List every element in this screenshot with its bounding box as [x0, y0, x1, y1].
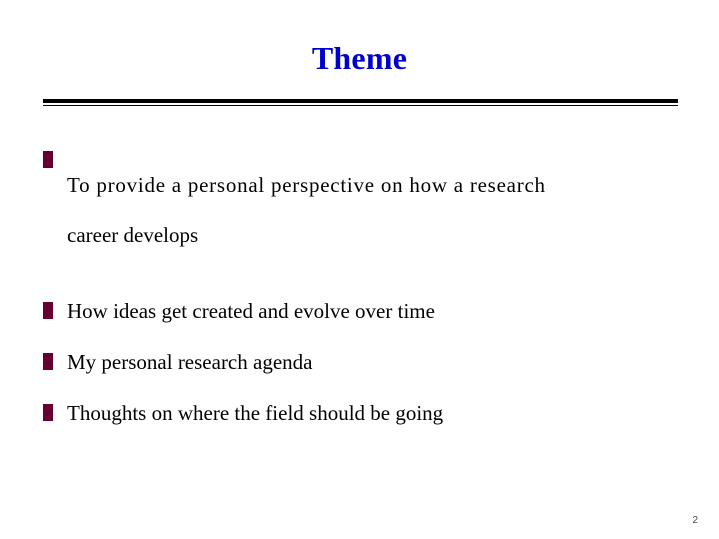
list-item: Thoughts on where the field should be go…: [43, 401, 683, 426]
title-divider: [43, 99, 678, 108]
list-item-label: Thoughts on where the field should be go…: [67, 401, 683, 426]
bullet-list: To provide a personal perspective on how…: [43, 148, 683, 426]
divider-thin-line: [43, 105, 678, 106]
list-item-line: career develops: [67, 223, 679, 248]
list-item-label: My personal research agenda: [67, 350, 683, 375]
square-bullet-icon: [43, 151, 53, 168]
list-item-line: To provide a personal perspective on how…: [67, 173, 679, 198]
list-item-label: To provide a personal perspective on how…: [67, 148, 679, 273]
list-item-label: How ideas get created and evolve over ti…: [67, 299, 683, 324]
list-item: My personal research agenda: [43, 350, 683, 375]
list-item: To provide a personal perspective on how…: [43, 148, 683, 273]
square-bullet-icon: [43, 404, 53, 421]
page-number: 2: [692, 515, 698, 526]
list-item: How ideas get created and evolve over ti…: [43, 299, 683, 324]
square-bullet-icon: [43, 353, 53, 370]
square-bullet-icon: [43, 302, 53, 319]
presentation-slide: Theme To provide a personal perspective …: [0, 0, 719, 539]
page-title: Theme: [0, 38, 719, 78]
